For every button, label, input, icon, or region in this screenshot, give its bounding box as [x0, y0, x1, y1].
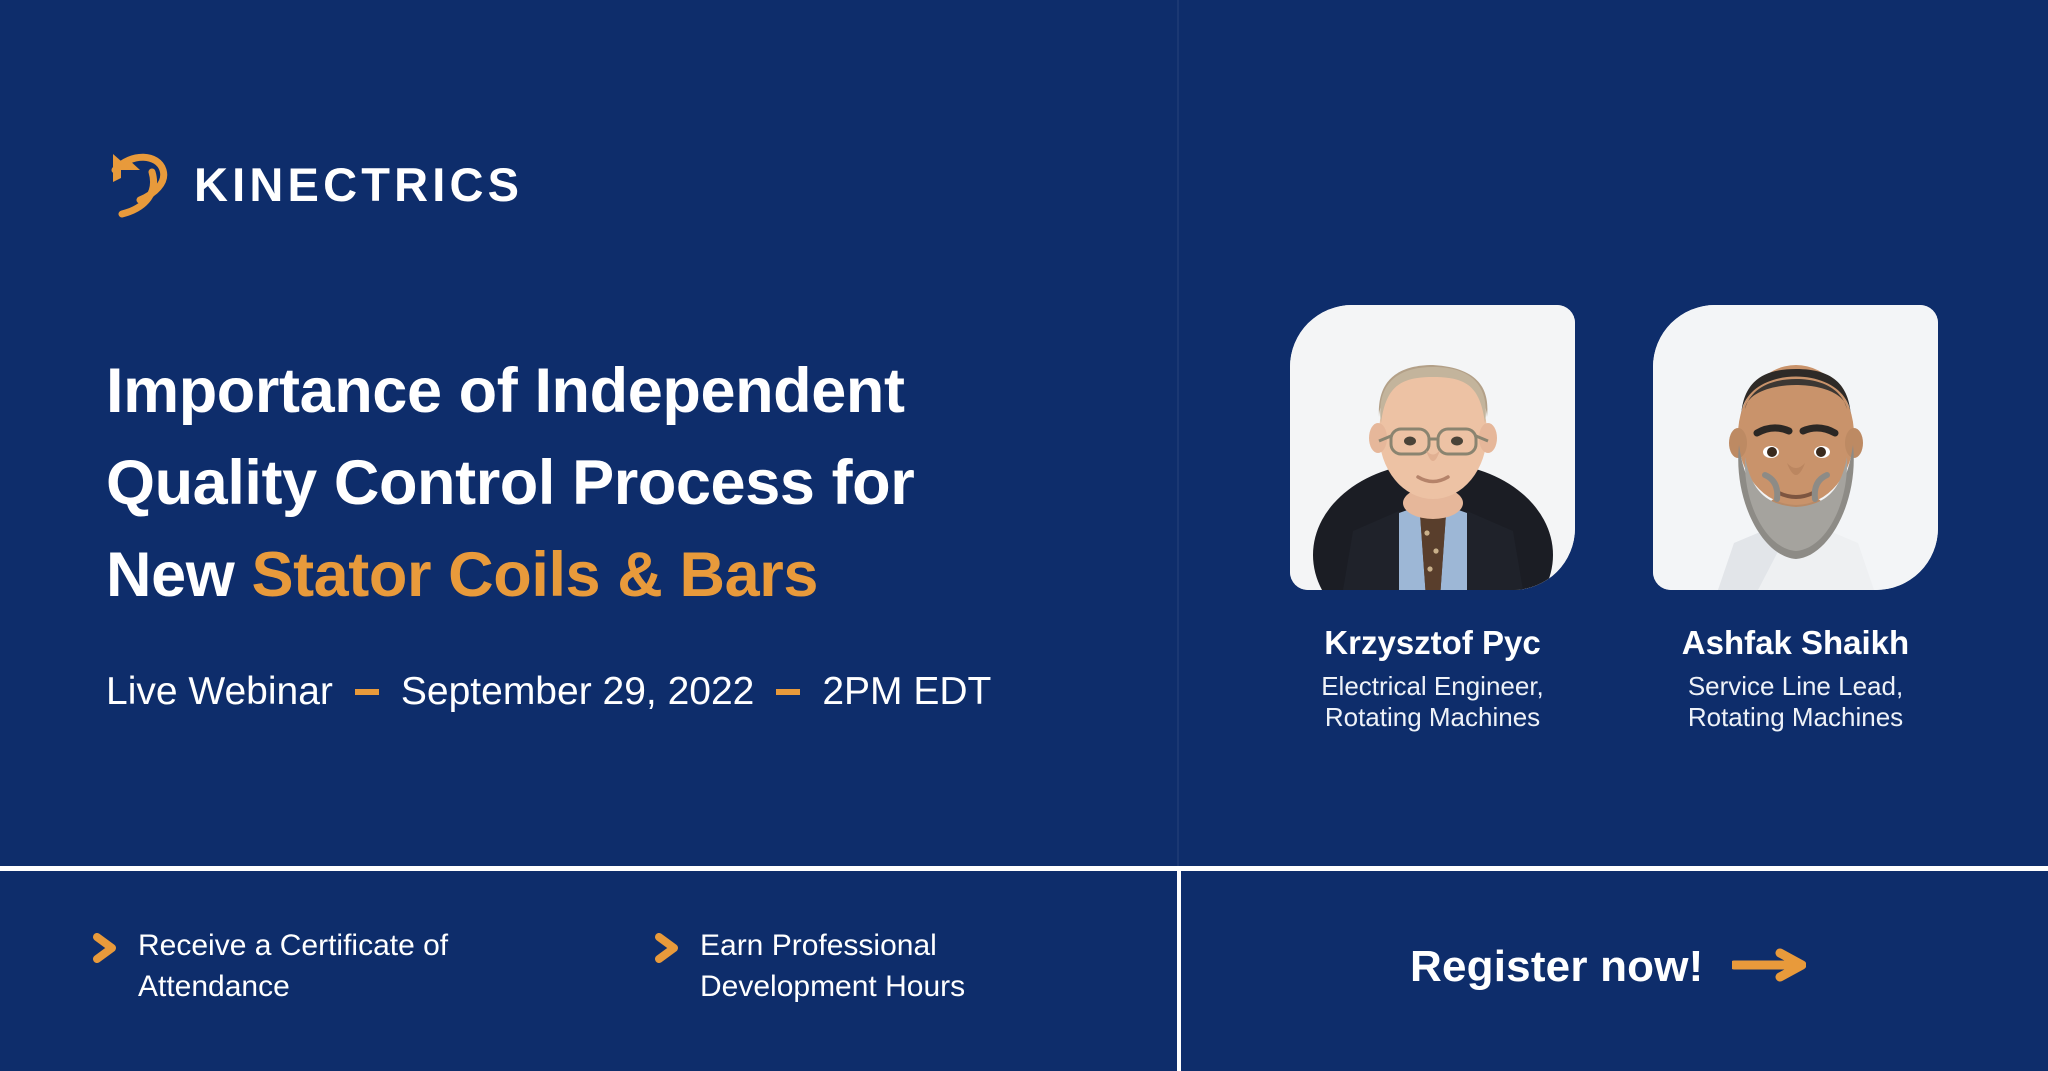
benefits-list: Receive a Certificate of Attendance Earn…: [92, 925, 1100, 1007]
register-now-button[interactable]: Register now!: [1410, 945, 1806, 989]
chevron-right-icon: [654, 933, 682, 968]
swoosh-arrow-logo-icon: [106, 148, 174, 220]
speaker-role-line-2: Rotating Machines: [1290, 702, 1575, 733]
speaker-list: Krzysztof Pyc Electrical Engineer, Rotat…: [1290, 305, 1938, 733]
speaker-name: Ashfak Shaikh: [1653, 624, 1938, 662]
dash-separator-icon: [355, 689, 379, 695]
register-now-label: Register now!: [1410, 945, 1704, 989]
speaker-name: Krzysztof Pyc: [1290, 624, 1575, 662]
speaker-photo-krzysztof-pyc: [1290, 305, 1575, 590]
speaker-role: Electrical Engineer, Rotating Machines: [1290, 671, 1575, 733]
speaker-role-line-2: Rotating Machines: [1653, 702, 1938, 733]
event-time: 2PM EDT: [822, 672, 991, 711]
speaker-role-line-1: Service Line Lead,: [1653, 671, 1938, 702]
brand-logo[interactable]: KINECTRICS: [106, 148, 523, 220]
headline-line-1: Importance of Independent: [106, 345, 1106, 437]
webinar-promo-banner: KINECTRICS Importance of Independent Qua…: [0, 0, 2048, 1071]
headline-line-3-plain: New: [106, 540, 251, 610]
speaker-card: Krzysztof Pyc Electrical Engineer, Rotat…: [1290, 305, 1575, 733]
headline: Importance of Independent Quality Contro…: [106, 345, 1106, 621]
upper-panel-seam: [1177, 0, 1179, 866]
benefit-item: Receive a Certificate of Attendance: [92, 925, 538, 1007]
speaker-card: Ashfak Shaikh Service Line Lead, Rotatin…: [1653, 305, 1938, 733]
vertical-divider: [1177, 871, 1181, 1071]
headline-line-2: Quality Control Process for: [106, 437, 1106, 529]
brand-name: KINECTRICS: [194, 161, 523, 208]
headline-line-3-accent: Stator Coils & Bars: [251, 540, 818, 610]
event-details: Live Webinar September 29, 2022 2PM EDT: [106, 672, 991, 711]
benefit-text: Receive a Certificate of Attendance: [138, 925, 538, 1007]
horizontal-divider: [0, 866, 2048, 871]
benefit-text: Earn Professional Development Hours: [700, 925, 1100, 1007]
speaker-role-line-1: Electrical Engineer,: [1290, 671, 1575, 702]
benefit-item: Earn Professional Development Hours: [654, 925, 1100, 1007]
event-date: September 29, 2022: [401, 672, 754, 711]
event-type: Live Webinar: [106, 672, 333, 711]
headline-line-3: New Stator Coils & Bars: [106, 529, 1106, 621]
speaker-role: Service Line Lead, Rotating Machines: [1653, 671, 1938, 733]
arrow-right-icon: [1732, 948, 1806, 987]
speaker-photo-ashfak-shaikh: [1653, 305, 1938, 590]
chevron-right-icon: [92, 933, 120, 968]
dash-separator-icon: [776, 689, 800, 695]
